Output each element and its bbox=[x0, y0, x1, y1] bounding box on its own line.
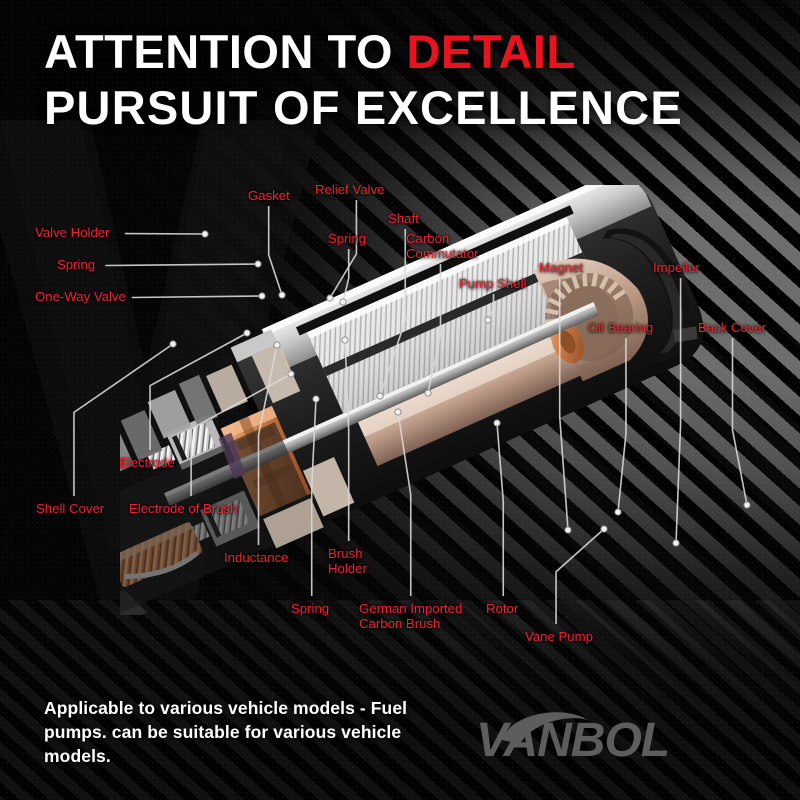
callout-label-impeller: Impeller bbox=[653, 260, 700, 275]
callout-label-gasket: Gasket bbox=[248, 188, 290, 203]
callout-label-magnet: Magnet bbox=[539, 260, 583, 275]
callout-label-vane-pump: Vane Pump bbox=[525, 629, 593, 644]
callout-label-one-way-valve: One-Way Valve bbox=[35, 289, 126, 304]
infographic-canvas: ATTENTION TO DETAIL PURSUIT OF EXCELLENC… bbox=[0, 0, 800, 800]
callout-label-shaft: Shaft bbox=[388, 211, 419, 226]
callout-label-valve-holder: Valve Holder bbox=[35, 225, 110, 240]
callout-label-pump-shell: Pump Shell bbox=[459, 276, 526, 291]
callout-label-german-imported-brush: German Imported Carbon Brush bbox=[359, 601, 462, 631]
headline-block: ATTENTION TO DETAIL PURSUIT OF EXCELLENC… bbox=[44, 28, 764, 131]
callout-label-shell-cover: Shell Cover bbox=[36, 501, 104, 516]
footer-description: Applicable to various vehicle models - F… bbox=[44, 697, 424, 768]
callout-label-back-cover: Back Cover bbox=[698, 320, 766, 335]
headline-line-1: ATTENTION TO DETAIL bbox=[44, 28, 764, 75]
logo-wordmark: VANBOL bbox=[476, 714, 669, 767]
headline-accent-word: DETAIL bbox=[406, 25, 575, 78]
callout-label-relief-valve: Relief Valve bbox=[315, 182, 384, 197]
callout-label-rotor: Rotor bbox=[486, 601, 518, 616]
callout-label-spring-mid: Spring bbox=[328, 231, 366, 246]
callout-label-brush-holder: Brush Holder bbox=[328, 546, 367, 576]
callout-label-carbon-commutator: Carbon Commutator bbox=[406, 231, 479, 261]
callout-label-inductance: Inductance bbox=[224, 550, 289, 565]
callout-label-spring-upper: Spring bbox=[57, 257, 95, 272]
callout-label-electrode-of-brush: Electrode of Brush bbox=[129, 501, 238, 516]
headline-line-2: PURSUIT OF EXCELLENCE bbox=[44, 84, 764, 131]
callout-label-electrode: Electrode bbox=[119, 455, 175, 470]
callout-label-spring-lower: Spring bbox=[291, 601, 329, 616]
vanbol-logo: VANBOL bbox=[476, 706, 756, 768]
headline-line-1-text: ATTENTION TO bbox=[44, 25, 406, 78]
callout-label-oil-bearing: Oil Bearing bbox=[588, 320, 653, 335]
